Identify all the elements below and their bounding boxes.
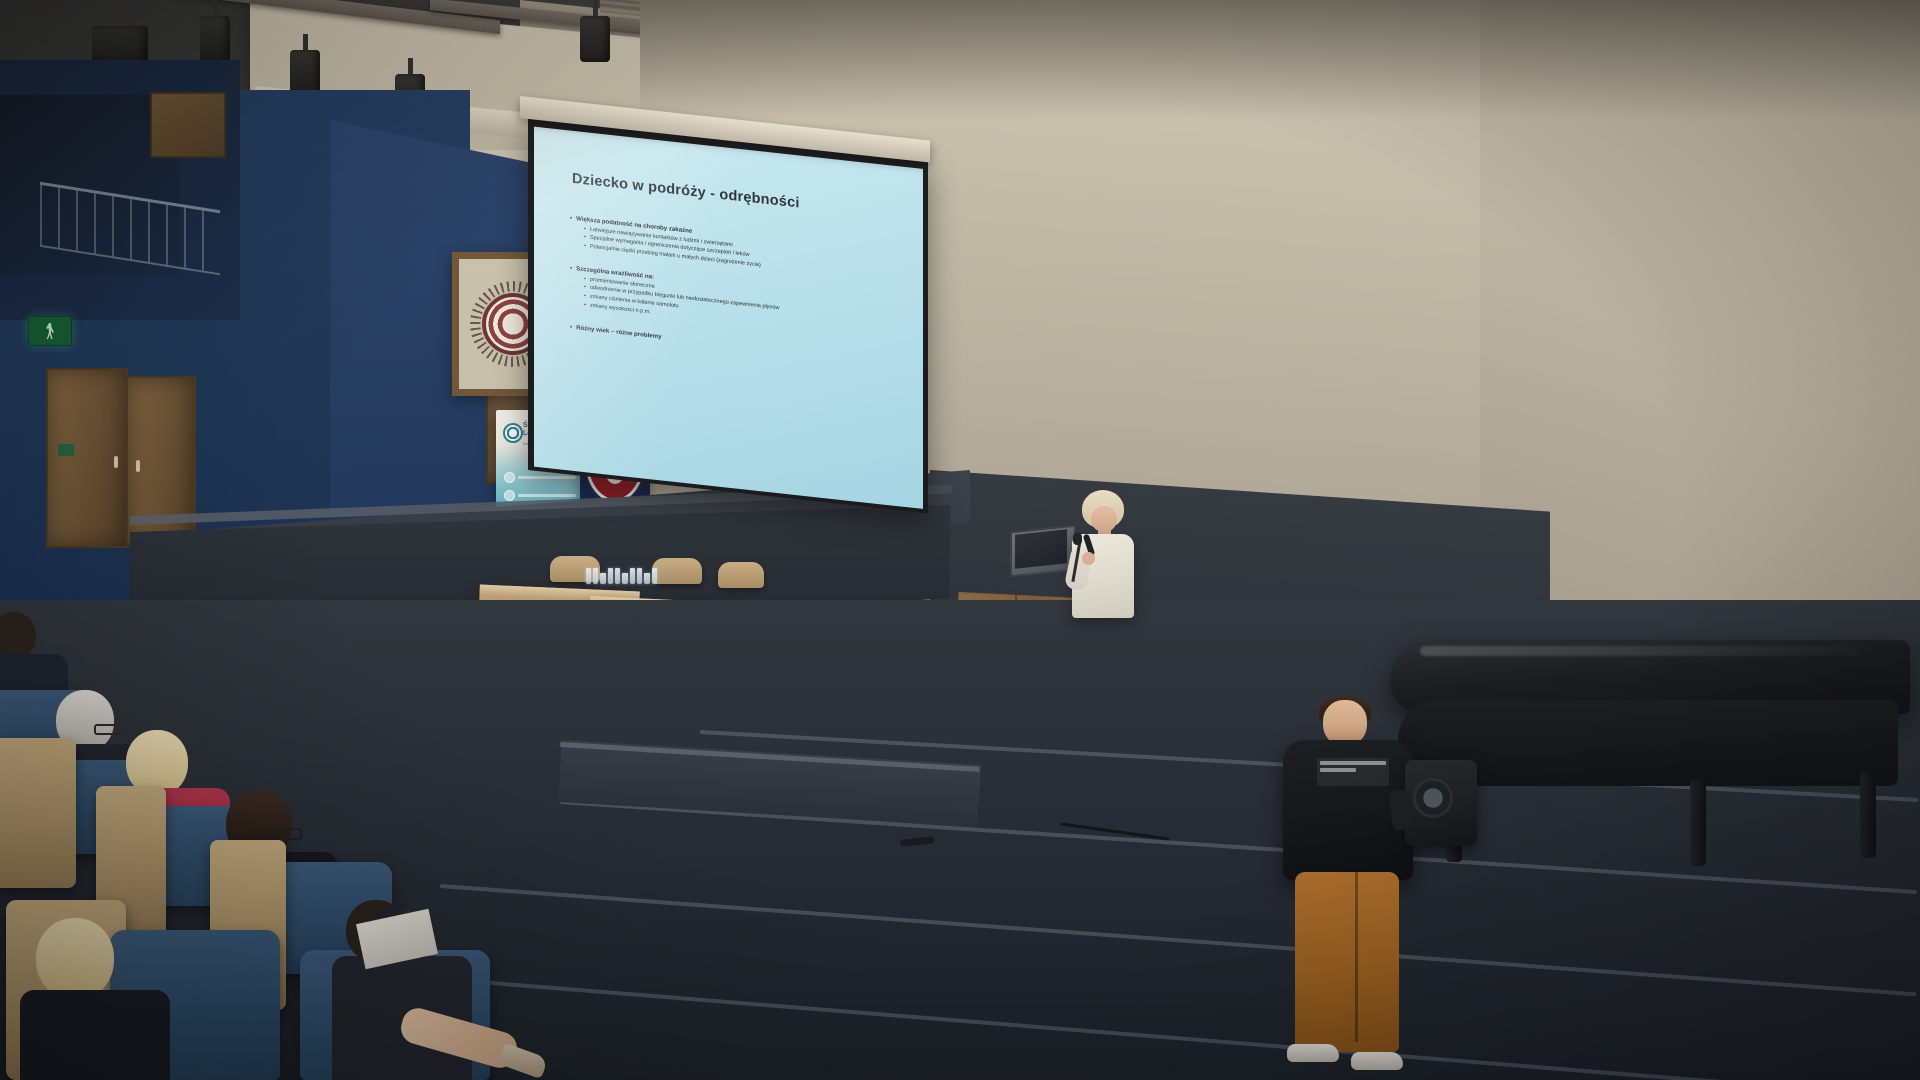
banner-bullet-icon bbox=[504, 472, 515, 483]
audience-body bbox=[20, 990, 170, 1080]
presenting-speaker bbox=[1060, 490, 1140, 620]
bullet-icon: • bbox=[584, 284, 586, 292]
slide-title: Dziecko w podróży - odrębności bbox=[572, 171, 913, 224]
ceiling-spotlight bbox=[290, 34, 320, 96]
piano-leg bbox=[1860, 772, 1876, 858]
speaker-hand bbox=[1082, 552, 1095, 565]
door-handle-icon bbox=[114, 456, 118, 468]
projection-screen: Dziecko w podróży - odrębności • Większa… bbox=[528, 118, 928, 513]
banner-bullet-icon bbox=[504, 490, 515, 501]
bullet-icon: • bbox=[584, 226, 586, 234]
seat bbox=[0, 738, 76, 888]
audience-member bbox=[26, 918, 176, 1080]
bullet-icon: • bbox=[584, 276, 586, 284]
bullet-icon: • bbox=[570, 323, 572, 332]
slide-surface: Dziecko w podróży - odrębności • Większa… bbox=[534, 127, 923, 509]
chair bbox=[718, 562, 764, 588]
door-handle-icon bbox=[136, 460, 140, 472]
video-camera bbox=[1405, 760, 1477, 846]
bullet-icon: • bbox=[584, 243, 586, 251]
auditorium-scene: Śląska Izba Lekarska Katowice ŚLĄSKI UNI… bbox=[0, 0, 1920, 1080]
wall-shadow bbox=[640, 0, 1920, 120]
camera-grip bbox=[1388, 789, 1413, 831]
operator-shoe bbox=[1351, 1052, 1403, 1070]
running-man-icon bbox=[46, 323, 54, 339]
bullet-icon: • bbox=[570, 215, 572, 224]
water-bottles bbox=[586, 568, 657, 584]
exit-sign bbox=[28, 316, 72, 346]
slide-body: • Większa podatność na choroby zakaźne •… bbox=[570, 215, 909, 370]
camera-lens-icon bbox=[1413, 778, 1453, 818]
chair bbox=[652, 558, 702, 584]
bullet-icon: • bbox=[584, 293, 586, 301]
podium-mic-head bbox=[1073, 533, 1082, 545]
door-sign bbox=[58, 444, 74, 456]
operator-trousers bbox=[1295, 872, 1399, 1052]
audience-head bbox=[0, 612, 36, 660]
audience-head bbox=[36, 918, 114, 1000]
bullet-icon: • bbox=[570, 265, 572, 274]
operator-shoe bbox=[1287, 1044, 1339, 1062]
ceiling-spotlight bbox=[580, 0, 610, 62]
piano-leg bbox=[1690, 780, 1706, 866]
banner-logo-icon bbox=[503, 423, 523, 443]
wood-wall-panel bbox=[150, 92, 226, 158]
camera-operator bbox=[1255, 700, 1455, 1080]
tshirt-print bbox=[1317, 758, 1389, 786]
exit-door-left[interactable] bbox=[46, 368, 128, 548]
ceiling-spotlight bbox=[200, 0, 230, 62]
piano-lid-highlight bbox=[1420, 646, 1860, 656]
bullet-icon: • bbox=[584, 302, 586, 310]
eyeglasses-icon bbox=[270, 828, 302, 840]
bullet-icon: • bbox=[584, 234, 586, 242]
